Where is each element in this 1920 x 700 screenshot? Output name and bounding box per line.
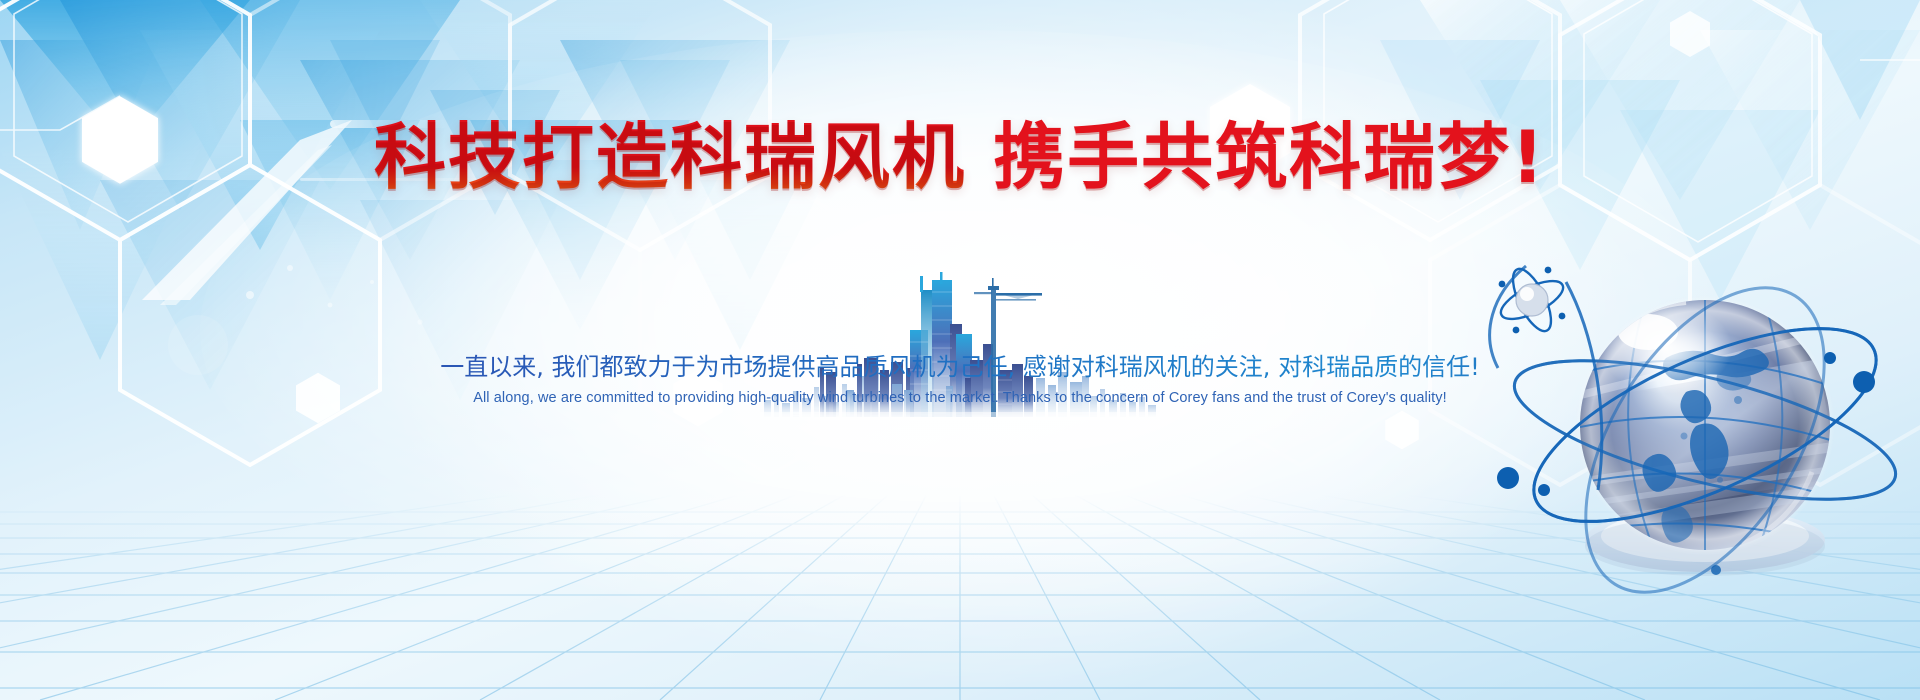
subtitle-chinese: 一直以来, 我们都致力于为市场提供高品质风机为己任, 感谢对科瑞风机的关注, 对… — [0, 352, 1920, 382]
headline-gradient-part: 科技打造科瑞风机 — [374, 115, 966, 199]
page-title: 科技打造科瑞风机 携手共筑科瑞梦! — [0, 121, 1920, 193]
headline-plain-part: 携手共筑科瑞梦! — [966, 115, 1546, 199]
banner-root: 科技打造科瑞风机 携手共筑科瑞梦! 一直以来, 我们都致力于为市场提供高品质风机… — [0, 0, 1920, 700]
chrome-globe-with-orbits — [1470, 240, 1920, 600]
subtitle-english: All along, we are committed to providing… — [0, 389, 1920, 408]
